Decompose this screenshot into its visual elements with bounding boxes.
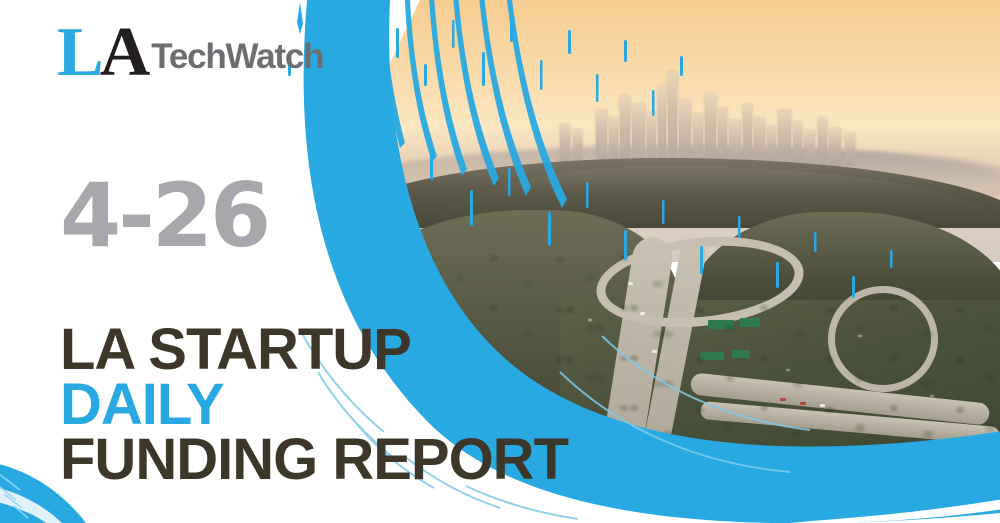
logo-letter-a: A: [100, 14, 147, 91]
logo-letter-l: L: [57, 14, 100, 91]
funding-report-card: LA TechWatch 4-26 LA STARTUP DAILY FUNDI…: [0, 0, 1000, 523]
headline-block: LA STARTUP DAILY FUNDING REPORT: [60, 322, 568, 487]
headline-line-3: FUNDING REPORT: [60, 432, 568, 487]
logo-wordmark: TechWatch: [151, 39, 323, 74]
headline-line-1: LA STARTUP: [60, 322, 568, 377]
logo-mark: LA: [57, 24, 146, 81]
date-label: 4-26: [60, 172, 268, 260]
headline-line-2: DAILY: [60, 377, 568, 432]
la-techwatch-logo[interactable]: LA TechWatch: [57, 24, 323, 81]
